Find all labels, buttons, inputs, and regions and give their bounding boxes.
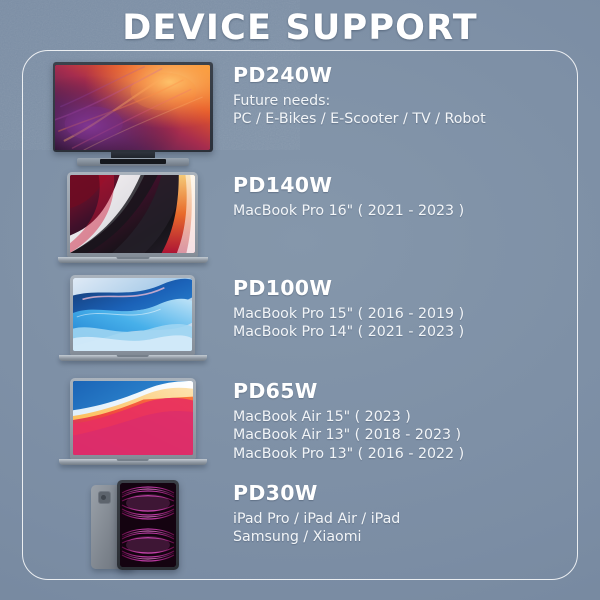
camera-icon <box>98 491 111 504</box>
wattage-label: PD140W <box>233 174 560 197</box>
laptop-lid <box>70 378 196 459</box>
page-title: DEVICE SUPPORT <box>0 8 600 48</box>
laptop-lid <box>70 275 195 355</box>
tv-wallpaper <box>55 65 210 150</box>
device-text-block: PD140W MacBook Pro 16" ( 2021 - 2023 ) <box>225 172 560 220</box>
device-row: PD30W iPad Pro / iPad Air / iPad Samsung… <box>40 480 560 572</box>
device-row: PD240W Future needs: PC / E-Bikes / E-Sc… <box>40 62 560 165</box>
device-line: MacBook Air 13" ( 2018 - 2023 ) <box>233 426 560 445</box>
device-line: iPad Pro / iPad Air / iPad <box>233 510 560 529</box>
device-line: Samsung / Xiaomi <box>233 528 560 547</box>
tv-body <box>53 62 213 152</box>
device-row: PD100W MacBook Pro 15" ( 2016 - 2019 ) M… <box>40 275 560 361</box>
device-image-macbook-pro-15 <box>40 275 225 361</box>
tv-screen <box>55 65 210 150</box>
ipad-front <box>117 480 179 570</box>
device-line: MacBook Pro 16" ( 2021 - 2023 ) <box>233 202 560 221</box>
laptop-trackpad-notch <box>116 355 149 357</box>
device-line: MacBook Pro 14" ( 2021 - 2023 ) <box>233 323 560 342</box>
device-row: PD65W MacBook Air 15" ( 2023 ) MacBook A… <box>40 378 560 465</box>
device-line: MacBook Pro 13" ( 2016 - 2022 ) <box>233 445 560 464</box>
laptop-trackpad-notch <box>116 459 149 461</box>
device-image-macbook-air <box>40 378 225 465</box>
macbook-pro-15-icon <box>59 275 207 361</box>
macbook-air-icon <box>59 378 207 465</box>
macbook-pro-16-icon <box>58 172 208 263</box>
laptop-base <box>59 355 207 361</box>
laptop-base <box>58 257 208 263</box>
wattage-label: PD65W <box>233 380 560 403</box>
macbook-pro-16-wallpaper <box>70 175 195 253</box>
device-line: Future needs: <box>233 92 560 111</box>
device-text-block: PD100W MacBook Pro 15" ( 2016 - 2019 ) M… <box>225 275 560 342</box>
laptop-trackpad-notch <box>116 257 149 259</box>
device-image-macbook-pro-16 <box>40 172 225 263</box>
wattage-label: PD30W <box>233 482 560 505</box>
device-line: MacBook Air 15" ( 2023 ) <box>233 408 560 427</box>
ipad-pro-icon <box>83 480 183 572</box>
ipad-screen <box>120 483 176 567</box>
tv-soundbar <box>100 159 166 164</box>
poster-background: DEVICE SUPPORT <box>0 0 600 600</box>
device-text-block: PD240W Future needs: PC / E-Bikes / E-Sc… <box>225 62 560 129</box>
device-text-block: PD65W MacBook Air 15" ( 2023 ) MacBook A… <box>225 378 560 463</box>
television-icon <box>53 62 213 165</box>
laptop-screen <box>73 278 192 351</box>
device-line: PC / E-Bikes / E-Scooter / TV / Robot <box>233 110 560 129</box>
device-image-ipad-pro <box>40 480 225 572</box>
wattage-label: PD240W <box>233 64 560 87</box>
device-text-block: PD30W iPad Pro / iPad Air / iPad Samsung… <box>225 480 560 547</box>
laptop-screen <box>73 381 193 455</box>
device-line: MacBook Pro 15" ( 2016 - 2019 ) <box>233 305 560 324</box>
device-row: PD140W MacBook Pro 16" ( 2021 - 2023 ) <box>40 172 560 263</box>
laptop-base <box>59 459 207 465</box>
laptop-screen <box>70 175 195 253</box>
macbook-pro-15-wallpaper <box>73 278 192 351</box>
device-image-television <box>40 62 225 165</box>
laptop-lid <box>67 172 198 257</box>
wattage-label: PD100W <box>233 277 560 300</box>
ipad-wallpaper <box>120 483 176 567</box>
macbook-air-wallpaper <box>73 381 193 455</box>
